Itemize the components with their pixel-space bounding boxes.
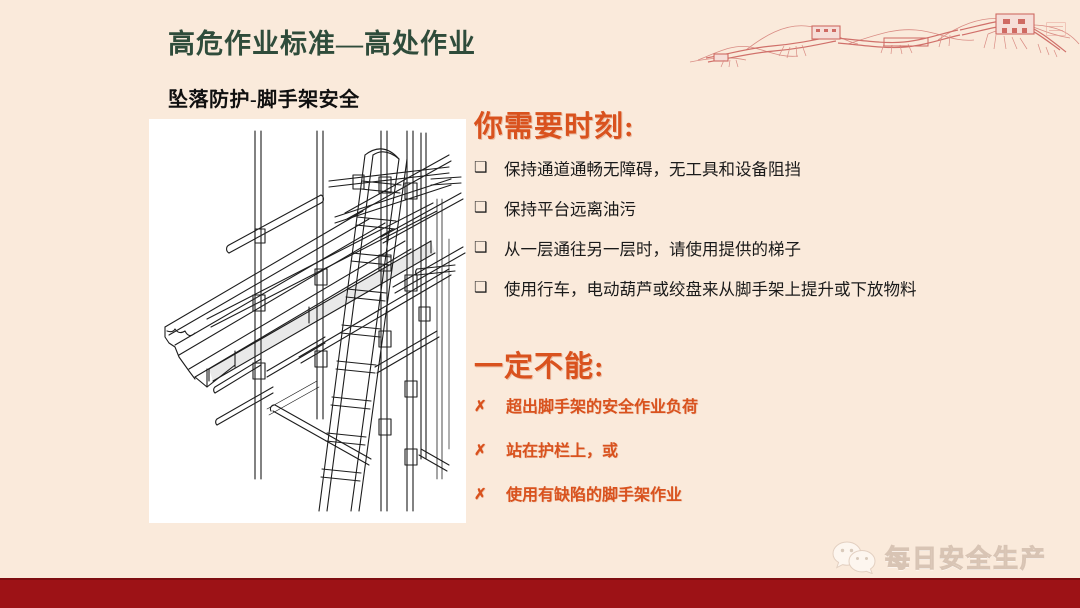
list-item-label: 使用行车，电动葫芦或绞盘来从脚手架上提升或下放物料 xyxy=(504,278,959,302)
list-item: ✗ 使用有缺陷的脚手架作业 xyxy=(474,485,1064,507)
checkbox-icon: ❑ xyxy=(474,278,504,300)
wechat-icon xyxy=(832,540,876,574)
cross-mark-icon: ✗ xyxy=(474,397,506,417)
brand-watermark: 每日安全生产 xyxy=(832,534,1062,580)
page-subtitle: 坠落防护-脚手架安全 xyxy=(168,83,360,112)
checkbox-icon: ❑ xyxy=(474,158,504,180)
list-item: ✗ 站在护栏上，或 xyxy=(474,441,1064,463)
seal-stamp-icon xyxy=(1046,22,1066,36)
list-item: ❑ 使用行车，电动葫芦或绞盘来从脚手架上提升或下放物料 xyxy=(474,278,1064,302)
great-wall-decoration-icon xyxy=(688,0,1080,72)
list-item: ❑ 从一层通往另一层时，请使用提供的梯子 xyxy=(474,238,1064,262)
list-item-label: 站在护栏上，或 xyxy=(506,441,618,463)
slide-canvas: 高危作业标准—高处作业 坠落防护-脚手架安全 xyxy=(0,0,1080,608)
list-item: ✗ 超出脚手架的安全作业负荷 xyxy=(474,397,1064,419)
list-item-label: 使用有缺陷的脚手架作业 xyxy=(506,485,682,507)
page-title: 高危作业标准—高处作业 xyxy=(168,22,476,61)
list-item-label: 从一层通往另一层时，请使用提供的梯子 xyxy=(504,238,959,262)
brand-name: 每日安全生产 xyxy=(885,539,1047,575)
never-list: ✗ 超出脚手架的安全作业负荷 ✗ 站在护栏上，或 ✗ 使用有缺陷的脚手架作业 xyxy=(474,397,1064,506)
footer-bar xyxy=(0,578,1080,608)
cross-mark-icon: ✗ xyxy=(474,485,506,505)
list-item-label: 超出脚手架的安全作业负荷 xyxy=(506,397,698,419)
cross-mark-icon: ✗ xyxy=(474,441,506,461)
never-heading: 一定不能: xyxy=(474,352,1064,384)
list-item: ❑ 保持通道通畅无障碍，无工具和设备阻挡 xyxy=(474,158,1064,182)
must-heading: 你需要时刻: xyxy=(474,112,1064,144)
scaffolding-illustration xyxy=(149,119,466,523)
list-item: ❑ 保持平台远离油污 xyxy=(474,198,1064,222)
checkbox-icon: ❑ xyxy=(474,238,504,260)
checkbox-icon: ❑ xyxy=(474,198,504,220)
list-item-label: 保持平台远离油污 xyxy=(504,198,959,222)
content-column: 你需要时刻: ❑ 保持通道通畅无障碍，无工具和设备阻挡 ❑ 保持平台远离油污 ❑… xyxy=(474,112,1064,528)
list-item-label: 保持通道通畅无障碍，无工具和设备阻挡 xyxy=(504,158,959,182)
must-list: ❑ 保持通道通畅无障碍，无工具和设备阻挡 ❑ 保持平台远离油污 ❑ 从一层通往另… xyxy=(474,158,1064,302)
